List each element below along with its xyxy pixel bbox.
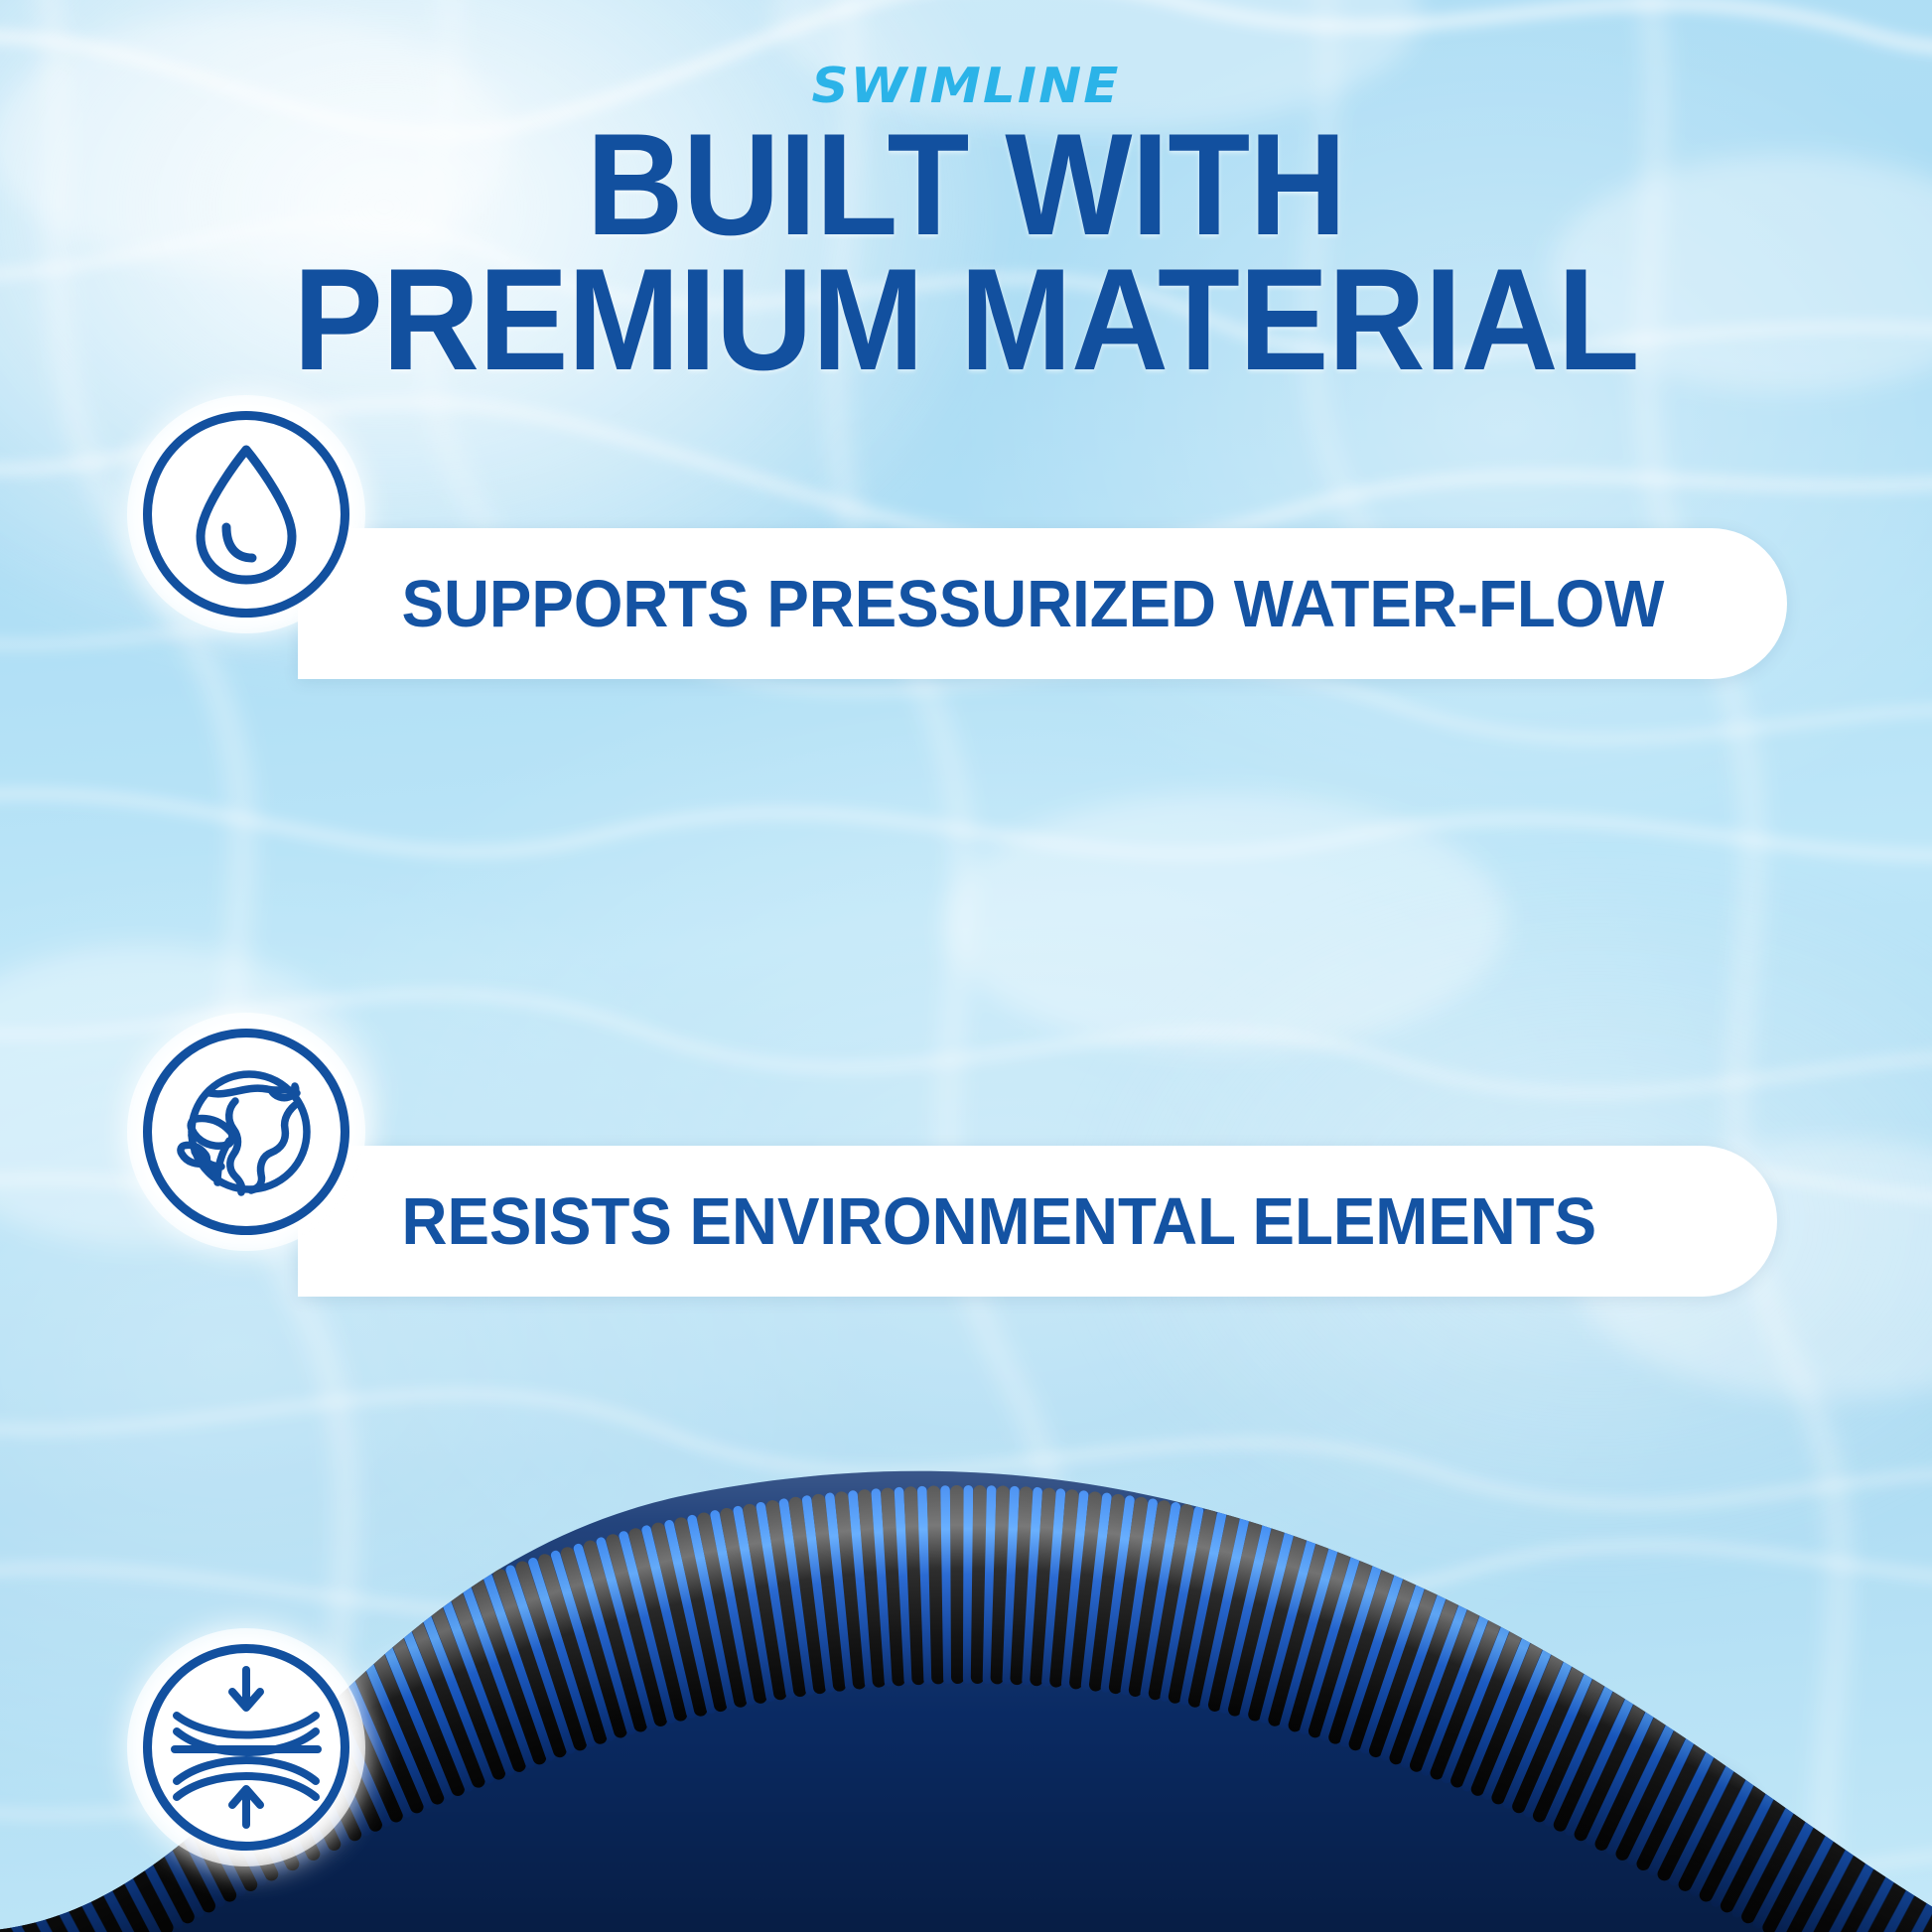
feature-icon-wrap-3: [127, 1628, 365, 1866]
feature-band-1: SUPPORTS PRESSURIZED WATER-FLOW: [298, 528, 1787, 679]
page-title-line-2: PREMIUM MATERIAL: [68, 252, 1864, 387]
page-title: BUILT WITH PREMIUM MATERIAL: [68, 117, 1864, 387]
flexibility-icon: [143, 1644, 349, 1851]
poster-canvas: SWIMLINE BUILT WITH PREMIUM MATERIAL SUP…: [0, 0, 1932, 1932]
feature-row-environmental: RESISTS ENVIRONMENTAL ELEMENTS: [0, 685, 1932, 993]
feature-row-water-flow: SUPPORTS PRESSURIZED WATER-FLOW: [0, 377, 1932, 685]
feature-icon-wrap-1: [127, 395, 365, 633]
water-drop-icon: [143, 411, 349, 618]
feature-label-1: SUPPORTS PRESSURIZED WATER-FLOW: [298, 566, 1664, 642]
feature-icon-wrap-2: [127, 1013, 365, 1251]
eco-globe-icon: [143, 1029, 349, 1235]
page-title-line-1: BUILT WITH: [68, 117, 1864, 252]
feature-list: SUPPORTS PRESSURIZED WATER-FLOW: [0, 377, 1932, 1301]
